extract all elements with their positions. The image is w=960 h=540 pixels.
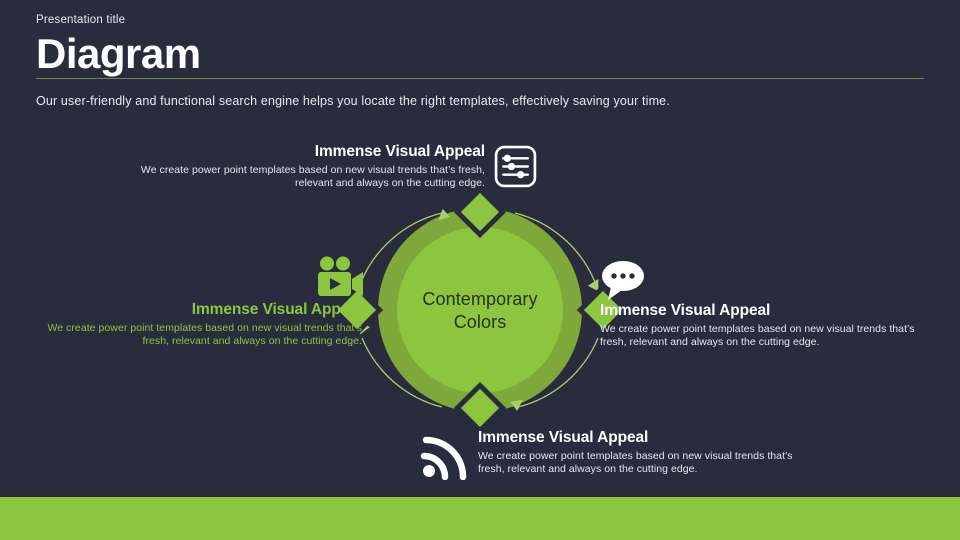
feature-title-top: Immense Visual Appeal — [140, 142, 485, 161]
chat-bubble-icon — [598, 259, 646, 301]
cycle-diagram: Contemporary Colors Immense Visual Appea… — [0, 0, 960, 540]
feature-title-left: Immense Visual Appeal — [30, 300, 362, 319]
rss-signal-icon — [420, 434, 468, 480]
feature-body-right: We create power point templates based on… — [600, 323, 940, 348]
center-label: Contemporary Colors — [400, 288, 560, 334]
feature-body-bottom: We create power point templates based on… — [478, 450, 818, 475]
feature-title-right: Immense Visual Appeal — [600, 301, 940, 320]
sliders-icon — [493, 144, 538, 189]
feature-block-left[interactable]: Immense Visual Appeal We create power po… — [30, 300, 362, 347]
feature-body-top: We create power point templates based on… — [140, 164, 485, 189]
feature-block-bottom[interactable]: Immense Visual Appeal We create power po… — [478, 428, 818, 475]
center-label-line1: Contemporary — [400, 288, 560, 311]
bottom-accent-band — [0, 497, 960, 540]
slide: Presentation title Diagram Our user-frie… — [0, 0, 960, 540]
feature-block-right[interactable]: Immense Visual Appeal We create power po… — [600, 301, 940, 348]
feature-title-bottom: Immense Visual Appeal — [478, 428, 818, 447]
center-label-line2: Colors — [400, 311, 560, 334]
video-camera-icon — [314, 256, 366, 300]
feature-block-top[interactable]: Immense Visual Appeal We create power po… — [140, 142, 485, 189]
feature-body-left: We create power point templates based on… — [30, 322, 362, 347]
